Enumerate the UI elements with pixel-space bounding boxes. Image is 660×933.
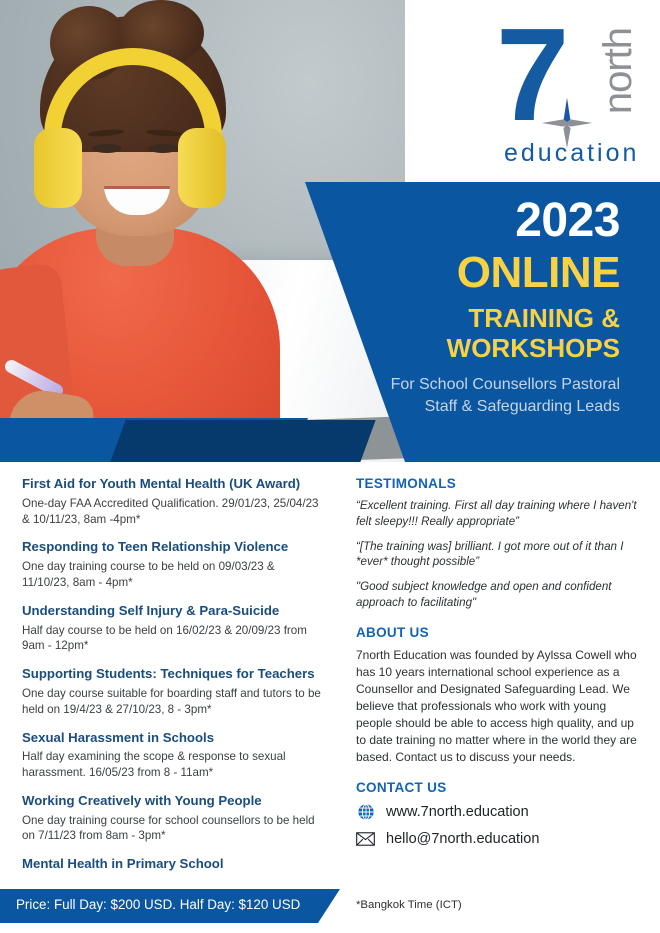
hero-year: 2023	[360, 196, 620, 246]
course-title: Responding to Teen Relationship Violence	[22, 539, 322, 555]
about-heading: ABOUT US	[356, 625, 641, 640]
contact-website-row[interactable]: www.7north.education	[356, 803, 641, 822]
website-url[interactable]: www.7north.education	[386, 804, 529, 820]
accent-parallelogram-navy	[110, 420, 375, 462]
hero-section: 7 north education 2023 ONLINE TRAINING &…	[0, 0, 660, 462]
course-item[interactable]: Responding to Teen Relationship Violence…	[22, 539, 322, 590]
course-title: Mental Health in Primary School	[22, 856, 322, 872]
course-title: First Aid for Youth Mental Health (UK Aw…	[22, 476, 322, 492]
about-body: 7north Education was founded by Aylssa C…	[356, 647, 641, 766]
globe-icon	[356, 803, 375, 822]
testimonial-quote: "Good subject knowledge and open and con…	[356, 579, 641, 611]
course-title: Working Creatively with Young People	[22, 793, 322, 809]
logo-north-word: north	[598, 28, 638, 114]
course-item[interactable]: Sexual Harassment in Schools Half day ex…	[22, 730, 322, 781]
course-title: Understanding Self Injury & Para-Suicide	[22, 603, 322, 619]
hero-online: ONLINE	[360, 250, 620, 297]
testimonials-heading: TESTIMONALS	[356, 476, 641, 491]
email-address[interactable]: hello@7north.education	[386, 831, 539, 847]
headphone-cup-right	[178, 128, 226, 208]
hero-training-workshops: TRAINING & WORKSHOPS	[360, 303, 620, 363]
hero-text-block: 2023 ONLINE TRAINING & WORKSHOPS For Sch…	[360, 196, 620, 418]
course-description: One day training course for school couns…	[22, 813, 322, 845]
compass-star-icon	[540, 96, 594, 150]
contact-email-row[interactable]: hello@7north.education	[356, 830, 641, 849]
course-description: One day course suitable for boarding sta…	[22, 686, 322, 718]
course-description: Half day examining the scope & response …	[22, 749, 322, 781]
footer-section: Price: Full Day: $200 USD. Half Day: $12…	[0, 873, 660, 933]
course-item[interactable]: Working Creatively with Young People One…	[22, 793, 322, 844]
content-section: First Aid for Youth Mental Health (UK Aw…	[0, 462, 660, 873]
contact-heading: CONTACT US	[356, 780, 641, 795]
headphone-cup-left	[34, 128, 82, 208]
course-title: Supporting Students: Techniques for Teac…	[22, 666, 322, 682]
poster-root: 7 north education 2023 ONLINE TRAINING &…	[0, 0, 660, 933]
course-description: One day training course to be held on 09…	[22, 559, 322, 591]
timezone-note: *Bangkok Time (ICT)	[356, 899, 462, 911]
brand-logo: 7 north education	[484, 14, 644, 170]
testimonial-quote: “Excellent training. First all day train…	[356, 498, 641, 530]
course-list: First Aid for Youth Mental Health (UK Aw…	[22, 476, 322, 908]
hero-audience: For School Counsellors Pastoral Staff & …	[360, 374, 620, 418]
right-column: TESTIMONALS “Excellent training. First a…	[356, 476, 641, 849]
course-description: Half day course to be held on 16/02/23 &…	[22, 623, 322, 655]
course-item[interactable]: Understanding Self Injury & Para-Suicide…	[22, 603, 322, 654]
price-text: Price: Full Day: $200 USD. Half Day: $12…	[16, 897, 336, 912]
course-item[interactable]: First Aid for Youth Mental Health (UK Aw…	[22, 476, 322, 527]
course-item[interactable]: Supporting Students: Techniques for Teac…	[22, 666, 322, 717]
envelope-icon	[356, 830, 375, 849]
course-description: One-day FAA Accredited Qualification. 29…	[22, 496, 322, 528]
course-title: Sexual Harassment in Schools	[22, 730, 322, 746]
testimonial-quote: “[The training was] brilliant. I got mor…	[356, 539, 641, 571]
